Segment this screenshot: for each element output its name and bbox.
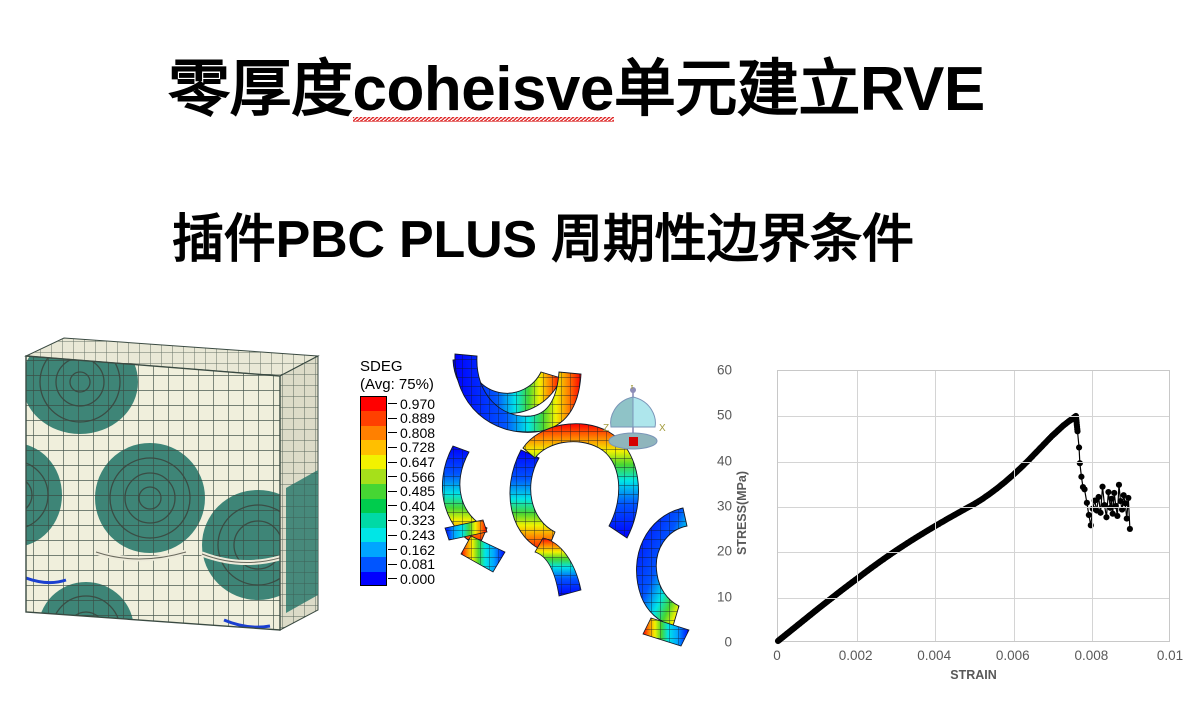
sdeg-tick-dash [388, 549, 397, 550]
sdeg-color-swatch [360, 528, 387, 543]
chart-x-tick-label: 0.006 [996, 648, 1030, 663]
chart-gridline-horizontal [778, 552, 1169, 553]
chart-x-tick-label: 0.01 [1157, 648, 1183, 663]
chart-data-point [1074, 426, 1080, 432]
chart-data-point [1097, 510, 1103, 516]
sdeg-value-label: 0.889 [400, 411, 435, 425]
sdeg-color-swatch [360, 513, 387, 528]
chart-data-point [1099, 484, 1105, 490]
sdeg-color-swatch [360, 396, 387, 411]
coordinate-triad: Z X Y [593, 385, 673, 465]
chart-y-axis-title: STRESS(MPa) [735, 433, 749, 593]
sdeg-value-label: 0.485 [400, 484, 435, 498]
sdeg-value-label: 0.162 [400, 543, 435, 557]
sdeg-value-label: 0.647 [400, 455, 435, 469]
sdeg-value-label: 0.566 [400, 470, 435, 484]
cohesive-arc-5 [637, 508, 687, 626]
sdeg-color-swatch [360, 426, 387, 441]
triad-dome-right [633, 397, 655, 427]
chart-data-point [1125, 495, 1131, 501]
sdeg-tick-dash [388, 403, 397, 404]
sdeg-value-label: 0.243 [400, 528, 435, 542]
chart-data-point [1114, 513, 1120, 519]
chart-data-point [1096, 494, 1102, 500]
sdeg-color-swatch [360, 542, 387, 557]
page-title: 零厚度coheisve单元建立RVE [168, 56, 985, 124]
cohesive-elements-view [435, 350, 720, 650]
title-misspelled-word: coheisve [353, 56, 614, 124]
chart-x-tick-label: 0.004 [917, 648, 951, 663]
sdeg-value-label: 0.081 [400, 557, 435, 571]
rve-mesh-panel [18, 330, 338, 650]
chart-data-point [1078, 474, 1084, 480]
sdeg-result-panel: SDEG (Avg: 75%) 0.9700.8890.8080.7280.64… [350, 350, 720, 650]
chart-gridline-horizontal [778, 598, 1169, 599]
chart-y-tick-label: 10 [717, 589, 732, 604]
sdeg-value-label: 0.808 [400, 426, 435, 440]
chart-plot-area [777, 370, 1170, 642]
chart-data-point [1122, 500, 1128, 506]
sdeg-tick-dash [388, 491, 397, 492]
chart-series-layer [778, 371, 1169, 641]
title-part-prefix: 零厚度 [168, 55, 353, 124]
triad-label-z: Z [603, 423, 609, 434]
chart-data-point [1116, 482, 1122, 488]
chart-gridline-vertical [857, 371, 858, 641]
rve-mesh-figure [18, 330, 338, 650]
sdeg-tick-dash [388, 578, 397, 579]
sdeg-color-swatch [360, 557, 387, 572]
chart-x-tick-label: 0.008 [1074, 648, 1108, 663]
cohesive-strip-2 [461, 536, 505, 572]
chart-data-point [1108, 496, 1114, 502]
sdeg-tick-dash [388, 476, 397, 477]
sdeg-color-swatch [360, 484, 387, 499]
chart-data-point [1084, 500, 1090, 506]
stress-strain-chart: STRESS(MPa) STRAIN 0102030405060 00.0020… [722, 352, 1190, 692]
chart-data-point [1076, 444, 1082, 450]
chart-data-point [1111, 490, 1117, 496]
sdeg-tick-dash [388, 564, 397, 565]
sdeg-value-label: 0.404 [400, 499, 435, 513]
chart-gridline-vertical [1092, 371, 1093, 641]
chart-data-point [1113, 503, 1119, 509]
sdeg-color-swatch [360, 440, 387, 455]
chart-gridline-horizontal [778, 507, 1169, 508]
sdeg-tick-dash [388, 505, 397, 506]
sdeg-color-swatch [360, 455, 387, 470]
chart-data-point [1103, 514, 1109, 520]
rve-side-fiber-mesh [286, 470, 318, 613]
chart-data-point [1105, 489, 1111, 495]
sdeg-value-label: 0.000 [400, 572, 435, 586]
sdeg-value-label: 0.323 [400, 513, 435, 527]
chart-y-tick-label: 30 [717, 499, 732, 514]
chart-data-point [1081, 486, 1087, 492]
chart-gridline-vertical [935, 371, 936, 641]
sdeg-tick-dash [388, 520, 397, 521]
sdeg-color-swatch [360, 572, 387, 587]
sdeg-tick-dash [388, 418, 397, 419]
chart-y-tick-label: 60 [717, 363, 732, 378]
page-subtitle: 插件PBC PLUS 周期性边界条件 [172, 212, 914, 269]
chart-data-point [1127, 526, 1133, 532]
sdeg-color-swatch [360, 469, 387, 484]
chart-gridline-horizontal [778, 462, 1169, 463]
chart-x-axis-title: STRAIN [777, 668, 1170, 682]
sdeg-value-label: 0.970 [400, 397, 435, 411]
chart-x-tick-label: 0.002 [839, 648, 873, 663]
triad-figure: Z X Y [593, 385, 673, 465]
cohesive-strip-3 [535, 538, 581, 596]
triad-origin-marker [629, 437, 638, 446]
cohesive-elements-figure [435, 350, 720, 650]
title-part-suffix: 单元建立RVE [614, 55, 985, 124]
chart-gridline-vertical [1014, 371, 1015, 641]
sdeg-value-label: 0.728 [400, 440, 435, 454]
chart-data-point [1124, 516, 1130, 522]
sdeg-color-swatch [360, 411, 387, 426]
triad-label-x: X [659, 423, 666, 434]
triad-dome-left [611, 397, 633, 427]
chart-y-tick-label: 0 [724, 635, 732, 650]
sdeg-tick-dash [388, 447, 397, 448]
chart-y-tick-label: 20 [717, 544, 732, 559]
chart-data-point [1086, 512, 1092, 518]
chart-x-tick-label: 0 [773, 648, 781, 663]
sdeg-tick-dash [388, 432, 397, 433]
sdeg-color-swatch [360, 499, 387, 514]
chart-y-tick-label: 50 [717, 408, 732, 423]
sdeg-tick-dash [388, 535, 397, 536]
triad-label-y: Y [629, 385, 635, 391]
sdeg-tick-dash [388, 462, 397, 463]
chart-gridline-horizontal [778, 416, 1169, 417]
chart-y-tick-label: 40 [717, 453, 732, 468]
